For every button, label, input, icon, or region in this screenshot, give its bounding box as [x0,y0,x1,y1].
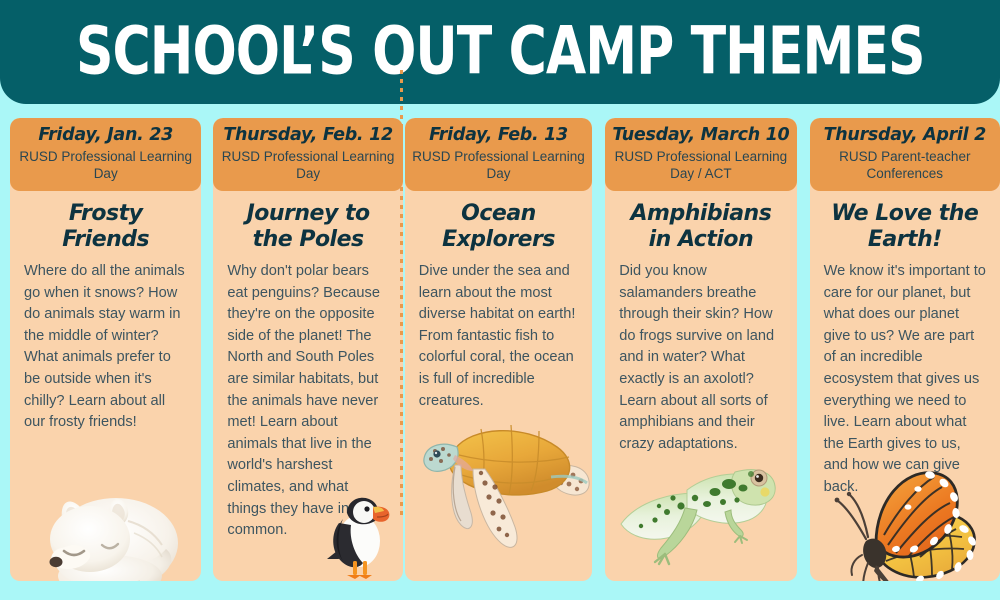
card-description-3: Dive under the sea and learn about the m… [419,261,578,412]
card-date-2: Thursday, Feb. 12 [219,125,396,145]
theme-columns: Friday, Jan. 23 RUSD Professional Learni… [0,118,1000,600]
card-subtitle-4: RUSD Professional Learning Day / ACT [611,149,790,182]
card-body-1: Frosty Friends Where do all the animals … [10,191,201,581]
card-date-1: Friday, Jan. 23 [16,125,195,145]
card-theme-2: Journey to the Poles [227,201,388,253]
card-subtitle-5: RUSD Parent-teacher Conferences [816,149,994,182]
card-header-4: Tuesday, March 10 RUSD Professional Lear… [605,118,796,191]
card-description-1: Where do all the animals go when it snow… [24,261,187,434]
card-date-5: Thursday, April 2 [816,125,994,145]
card-header-1: Friday, Jan. 23 RUSD Professional Learni… [10,118,201,191]
card-subtitle-2: RUSD Professional Learning Day [219,149,396,182]
card-body-3: Ocean Explorers Dive under the sea and l… [405,191,592,581]
theme-card-3[interactable]: Friday, Feb. 13 RUSD Professional Learni… [405,118,592,581]
title-banner: SCHOOL’S OUT CAMP THEMES [0,0,1000,104]
theme-card-2[interactable]: Thursday, Feb. 12 RUSD Professional Lear… [213,118,402,581]
theme-card-4[interactable]: Tuesday, March 10 RUSD Professional Lear… [605,118,796,581]
card-header-5: Thursday, April 2 RUSD Parent-teacher Co… [810,118,1000,191]
card-description-2: Why don't polar bears eat penguins? Beca… [227,261,388,542]
card-date-3: Friday, Feb. 13 [411,125,586,145]
card-theme-4: Amphibians in Action [619,201,782,253]
card-description-4: Did you know salamanders breathe through… [619,261,782,455]
card-body-4: Amphibians in Action Did you know salama… [605,191,796,581]
page-title: SCHOOL’S OUT CAMP THEMES [76,5,925,85]
card-header-3: Friday, Feb. 13 RUSD Professional Learni… [405,118,592,191]
card-subtitle-1: RUSD Professional Learning Day [16,149,195,182]
card-theme-5: We Love the Earth! [824,201,986,253]
theme-card-1[interactable]: Friday, Jan. 23 RUSD Professional Learni… [10,118,201,581]
card-theme-1: Frosty Friends [24,201,187,253]
card-description-5: We know it's important to care for our p… [824,261,986,499]
card-body-2: Journey to the Poles Why don't polar bea… [213,191,402,581]
theme-card-5[interactable]: Thursday, April 2 RUSD Parent-teacher Co… [810,118,1000,581]
card-body-5: We Love the Earth! We know it's importan… [810,191,1000,581]
dotted-divider [400,70,403,520]
card-subtitle-3: RUSD Professional Learning Day [411,149,586,182]
card-header-2: Thursday, Feb. 12 RUSD Professional Lear… [213,118,402,191]
card-theme-3: Ocean Explorers [419,201,578,253]
card-date-4: Tuesday, March 10 [611,125,790,145]
